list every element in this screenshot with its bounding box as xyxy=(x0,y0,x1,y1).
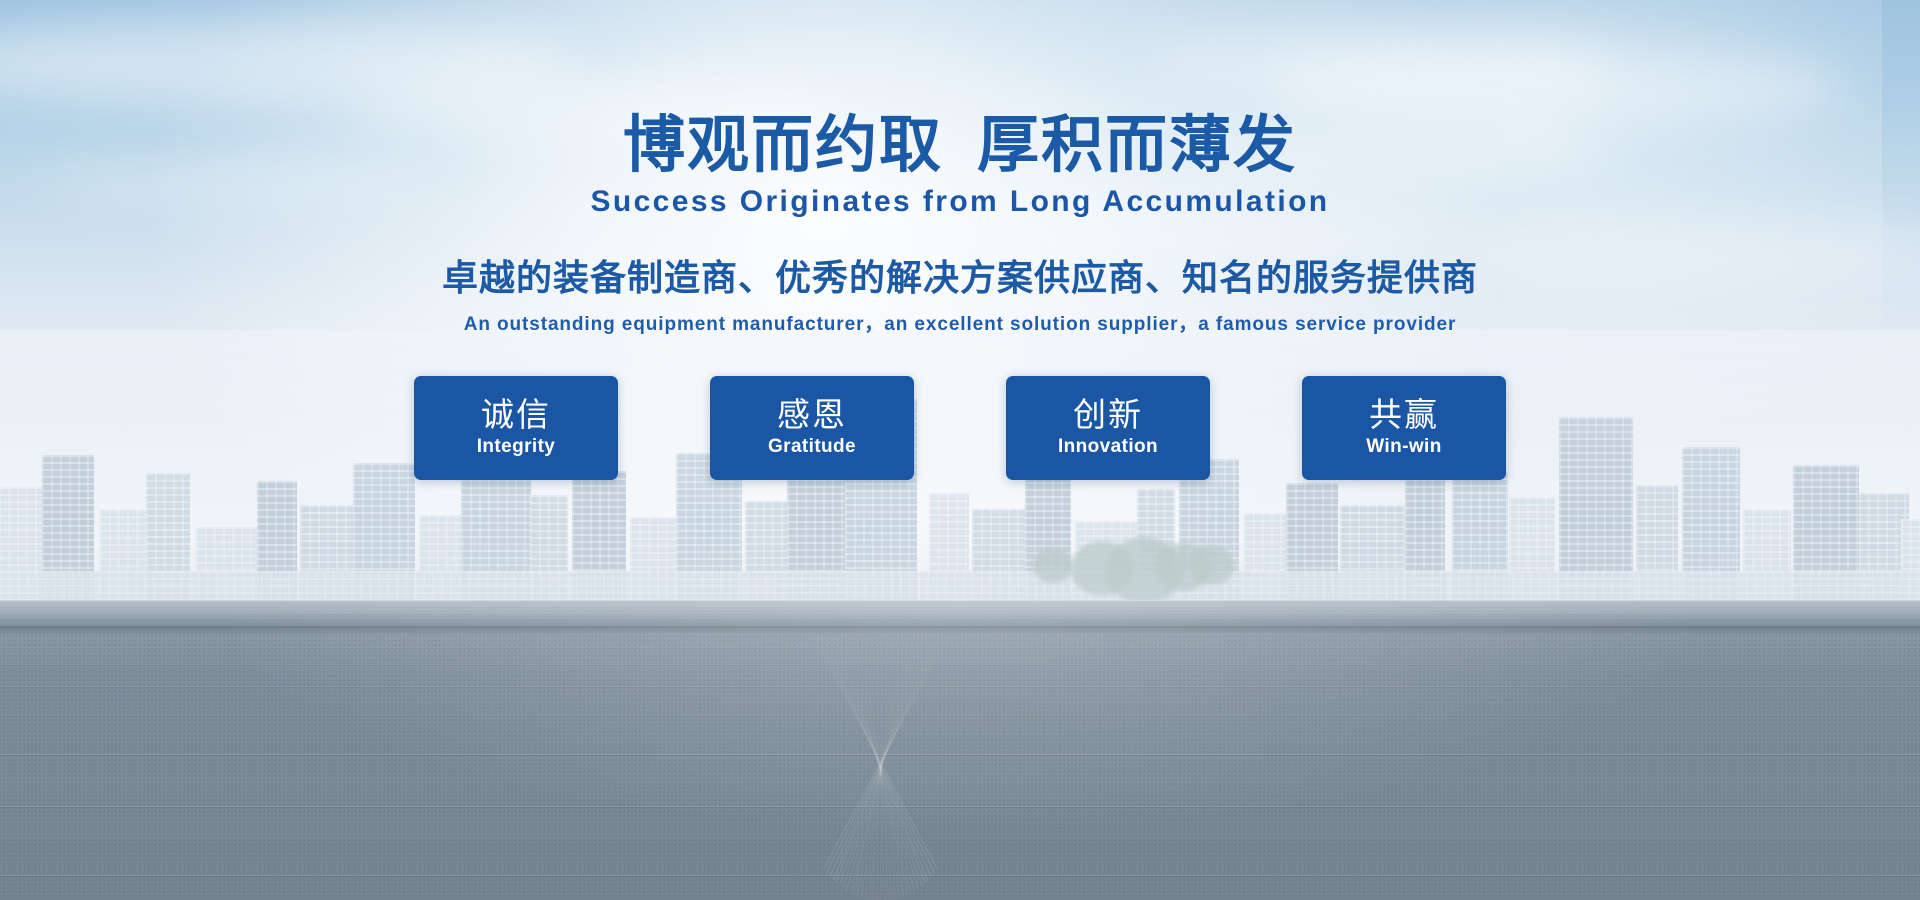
page-title: 博观而约取厚积而薄发 xyxy=(0,0,1920,179)
pavement-joint-horizontal xyxy=(0,647,1920,648)
value-label-cn: 诚信 xyxy=(481,398,551,432)
value-card-integrity[interactable]: 诚信Integrity xyxy=(414,376,618,480)
value-label-cn: 创新 xyxy=(1073,398,1143,432)
banner-content: 博观而约取厚积而薄发 Success Originates from Long … xyxy=(0,0,1920,480)
value-label-cn: 感恩 xyxy=(777,398,847,432)
ground-vignette xyxy=(0,600,1920,900)
pavement-joint-horizontal xyxy=(0,715,1920,716)
headline-cn-part-2: 厚积而薄发 xyxy=(977,108,1297,181)
subtitle-chinese: 卓越的装备制造商、优秀的解决方案供应商、知名的服务提供商 xyxy=(0,249,1920,301)
tree xyxy=(1033,547,1073,583)
pavement-joint-horizontal xyxy=(0,609,1920,610)
value-card-gratitude[interactable]: 感恩Gratitude xyxy=(710,376,914,480)
plaza-pavement xyxy=(0,600,1920,900)
subtitle-english: An outstanding equipment manufacturer，an… xyxy=(0,309,1920,336)
pavement-joint-horizontal xyxy=(0,754,1920,755)
core-values-list: 诚信Integrity感恩Gratitude创新Innovation共赢Win-… xyxy=(0,376,1920,480)
value-card-innovation[interactable]: 创新Innovation xyxy=(1006,376,1210,480)
hero-banner: 博观而约取厚积而薄发 Success Originates from Long … xyxy=(0,0,1920,900)
value-label-en: Integrity xyxy=(477,436,556,458)
value-label-cn: 共赢 xyxy=(1369,398,1439,432)
value-label-en: Gratitude xyxy=(768,436,856,458)
tree xyxy=(1190,545,1234,585)
value-card-win-win[interactable]: 共赢Win-win xyxy=(1302,376,1506,480)
headline-english: Success Originates from Long Accumulatio… xyxy=(0,185,1920,219)
pavement-joint-horizontal xyxy=(0,806,1920,807)
pavement-joint-horizontal xyxy=(0,875,1920,876)
pavement-joint-horizontal xyxy=(0,606,1920,607)
pavement-joint-horizontal xyxy=(0,618,1920,619)
headline-cn-part-1: 博观而约取 xyxy=(623,108,943,181)
value-label-en: Innovation xyxy=(1058,436,1158,458)
pavement-joint-horizontal xyxy=(0,635,1920,636)
value-label-en: Win-win xyxy=(1366,436,1441,458)
pavement-joint-horizontal xyxy=(0,664,1920,665)
pavement-joint-horizontal xyxy=(0,625,1920,626)
pavement-joint-horizontal xyxy=(0,613,1920,614)
pavement-joint-horizontal xyxy=(0,686,1920,687)
